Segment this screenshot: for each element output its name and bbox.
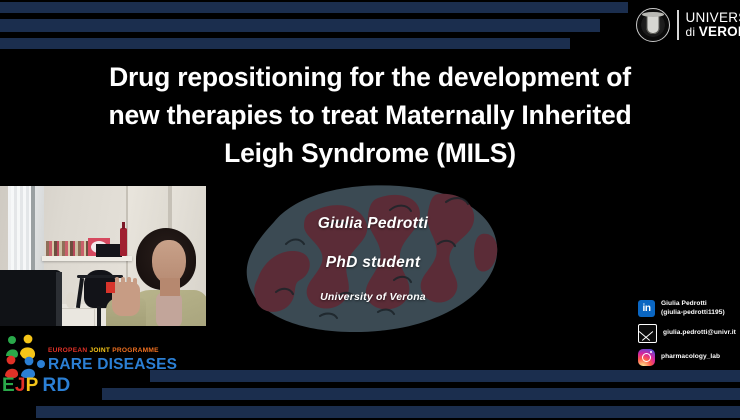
slide-title-line-2: new therapies to treat Maternally Inheri… — [38, 96, 702, 134]
university-logo-wordmark: UNIVERSITÀ di VERONA — [686, 11, 740, 39]
university-crest-icon — [636, 8, 670, 42]
presentation-slide: UNIVERSITÀ di VERONA Drug repositioning … — [0, 0, 740, 420]
ejp-letter-j: J — [15, 375, 26, 396]
email-icon[interactable] — [638, 324, 657, 343]
presenter-webcam-feed[interactable] — [0, 186, 206, 326]
slide-title-line-3: Leigh Syndrome (MILS) — [38, 134, 702, 172]
university-name-line1: UNIVERSITÀ — [686, 11, 740, 25]
instagram-icon[interactable] — [638, 349, 655, 366]
contact-instagram-handle: pharmacology_lab — [661, 353, 720, 360]
webcam-red-object — [106, 282, 115, 293]
webcam-window-frame — [31, 186, 35, 282]
accent-bar-top-2 — [0, 19, 600, 32]
ejp-letters-rd: RD — [43, 375, 71, 396]
accent-bar-bottom-1 — [150, 370, 740, 382]
accent-bar-bottom-3 — [36, 406, 740, 418]
logo-divider — [677, 10, 679, 40]
slide-title: Drug repositioning for the development o… — [38, 58, 702, 172]
contact-email-text: giulia.pedrotti@univr.it — [663, 329, 736, 338]
webcam-presenter-hand — [112, 282, 140, 316]
accent-bar-top-1 — [0, 2, 628, 13]
ejp-word-programme: PROGRAMME — [112, 347, 159, 354]
webcam-red-bottle — [120, 228, 127, 256]
webcam-presenter-inner-shirt — [156, 292, 182, 326]
webcam-books — [46, 241, 90, 256]
contact-linkedin-text: Giulia Pedrotti (giulia-pedrotti1195) — [661, 300, 725, 318]
university-name-di: di — [686, 25, 699, 39]
webcam-curtain — [11, 186, 33, 282]
contact-linkedin[interactable]: in Giulia Pedrotti (giulia-pedrotti1195) — [638, 300, 740, 318]
contact-email-address: giulia.pedrotti@univr.it — [663, 329, 736, 336]
ejp-letter-e: E — [2, 375, 15, 396]
ejp-rare-diseases: RARE DISEASES — [48, 356, 177, 374]
slide-title-line-1: Drug repositioning for the development o… — [38, 58, 702, 96]
university-name-line2: di VERONA — [686, 25, 740, 39]
webcam-presenter-neck — [160, 278, 180, 296]
ejp-letter-p: P — [26, 375, 39, 396]
ejp-rd-acronym: EJPRD — [2, 376, 70, 395]
contact-linkedin-handle: (giulia-pedrotti1195) — [661, 309, 725, 318]
university-name-verona: VERONA — [699, 24, 740, 39]
university-of-verona-logo: UNIVERSITÀ di VERONA — [636, 8, 740, 42]
webcam-small-object — [66, 292, 76, 308]
contact-instagram-text: pharmacology_lab — [661, 353, 720, 362]
ejp-rd-logo: EUROPEAN JOINT PROGRAMME RARE DISEASES E… — [2, 334, 152, 396]
ejp-rd-people-icon — [4, 334, 48, 378]
webcam-black-box — [96, 244, 122, 257]
ejp-rd-tagline: EUROPEAN JOINT PROGRAMME — [48, 347, 159, 354]
contact-instagram[interactable]: pharmacology_lab — [638, 349, 740, 366]
contact-email[interactable]: giulia.pedrotti@univr.it — [638, 324, 740, 343]
webcam-monitor — [0, 270, 62, 326]
mitochondrion-illustration — [242, 182, 504, 337]
ejp-word-joint: JOINT — [89, 347, 110, 354]
accent-bar-bottom-2 — [102, 388, 740, 400]
linkedin-icon[interactable]: in — [638, 300, 655, 317]
contact-linkedin-name: Giulia Pedrotti — [661, 300, 707, 307]
webcam-monitor-edge — [56, 272, 62, 326]
accent-bar-top-3 — [0, 38, 570, 49]
contact-list: in Giulia Pedrotti (giulia-pedrotti1195)… — [638, 300, 740, 372]
webcam-microphone-stand — [97, 306, 101, 326]
ejp-word-european: EUROPEAN — [48, 347, 87, 354]
